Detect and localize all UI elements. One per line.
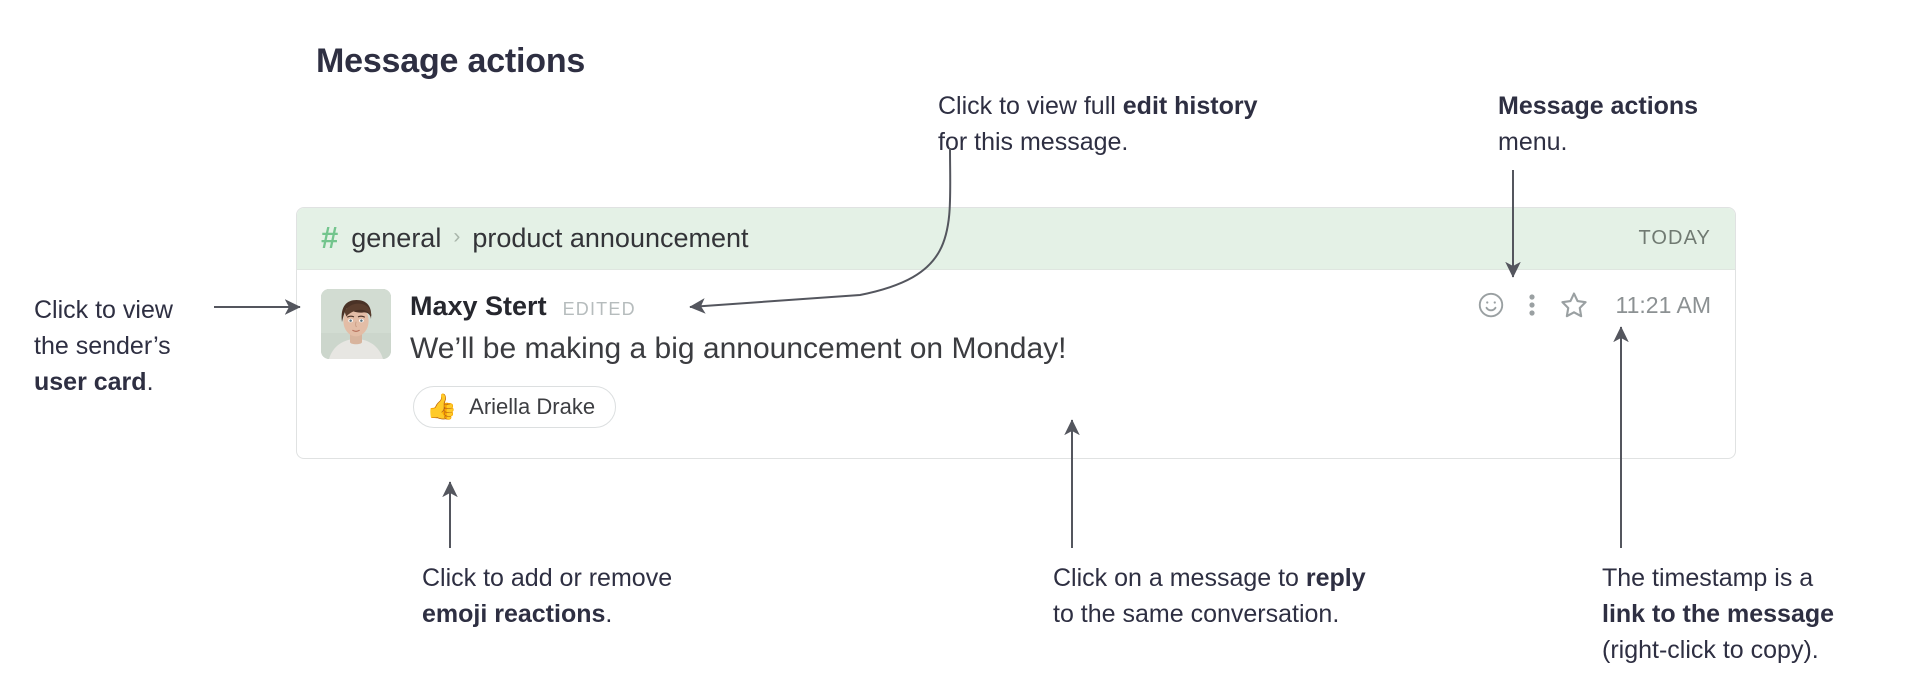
annotation-edit-history-line2: for this message.	[938, 124, 1258, 160]
message-body-text[interactable]: We’ll be making a big announcement on Mo…	[410, 332, 1067, 366]
breadcrumb-stream-name[interactable]: general	[351, 223, 441, 254]
annotation-edit-history-line1-pre: Click to view full	[938, 92, 1123, 120]
annotation-user-card-line1: Click to view	[34, 292, 173, 328]
reaction-user-name: Ariella Drake	[469, 394, 595, 420]
annotation-user-card-line3: user card.	[34, 364, 173, 400]
emoji-reaction-pill[interactable]: 👍 Ariella Drake	[413, 386, 616, 428]
annotation-edit-history-line1: Click to view full edit history	[938, 88, 1258, 124]
message-timestamp-link[interactable]: 11:21 AM	[1616, 292, 1711, 319]
sender-line: Maxy Stert EDITED	[410, 291, 636, 322]
card-header: # general › product announcement TODAY	[297, 208, 1735, 270]
annotation-message-actions-line1: Message actions	[1498, 88, 1698, 124]
annotation-timestamp: The timestamp is a link to the message (…	[1602, 560, 1834, 668]
annotation-user-card: Click to view the sender’s user card.	[34, 292, 173, 400]
date-label: TODAY	[1638, 227, 1711, 250]
annotation-edit-history: Click to view full edit history for this…	[938, 88, 1258, 160]
chevron-right-icon: ›	[453, 225, 460, 249]
annotation-user-card-line2: the sender’s	[34, 328, 173, 364]
annotation-reply-line1: Click on a message to reply	[1053, 560, 1366, 596]
emoji-reaction-icon[interactable]	[1476, 290, 1506, 320]
message-card: # general › product announcement TODAY	[296, 207, 1736, 459]
annotation-user-card-line3-bold: user card	[34, 368, 147, 396]
thumbs-up-icon: 👍	[426, 395, 457, 420]
breadcrumb-topic-name[interactable]: product announcement	[472, 223, 748, 254]
annotation-timestamp-line3: (right-click to copy).	[1602, 632, 1834, 668]
message-actions-menu-icon[interactable]	[1528, 290, 1536, 320]
annotation-message-actions-line2: menu.	[1498, 124, 1698, 160]
annotation-edit-history-line1-bold: edit history	[1123, 92, 1258, 120]
annotation-timestamp-line2-bold: link to the message	[1602, 600, 1834, 628]
page-title: Message actions	[316, 42, 585, 81]
annotation-reply: Click on a message to reply to the same …	[1053, 560, 1366, 632]
annotation-message-actions-line1-bold: Message actions	[1498, 92, 1698, 120]
annotation-reply-line1-bold: reply	[1306, 564, 1366, 592]
edited-badge[interactable]: EDITED	[563, 299, 636, 320]
star-icon[interactable]	[1558, 289, 1590, 321]
annotation-user-card-line3-rest: .	[147, 368, 154, 396]
annotation-emoji-reactions-line1: Click to add or remove	[422, 560, 672, 596]
annotation-emoji-reactions-line2-rest: .	[605, 600, 612, 628]
annotation-reply-line1-pre: Click on a message to	[1053, 564, 1306, 592]
annotation-emoji-reactions-line2: emoji reactions.	[422, 596, 672, 632]
annotation-reply-line2: to the same conversation.	[1053, 596, 1366, 632]
annotation-timestamp-line1: The timestamp is a	[1602, 560, 1834, 596]
annotation-emoji-reactions-line2-bold: emoji reactions	[422, 600, 605, 628]
annotation-emoji-reactions: Click to add or remove emoji reactions.	[422, 560, 672, 632]
avatar[interactable]	[321, 289, 391, 359]
annotation-timestamp-line2: link to the message	[1602, 596, 1834, 632]
sender-name[interactable]: Maxy Stert	[410, 291, 547, 322]
message-row[interactable]: Maxy Stert EDITED We’ll be making a big …	[297, 270, 1735, 459]
message-action-icons: 11:21 AM	[1476, 289, 1711, 321]
annotation-message-actions: Message actions menu.	[1498, 88, 1698, 160]
hash-icon: #	[321, 222, 338, 253]
